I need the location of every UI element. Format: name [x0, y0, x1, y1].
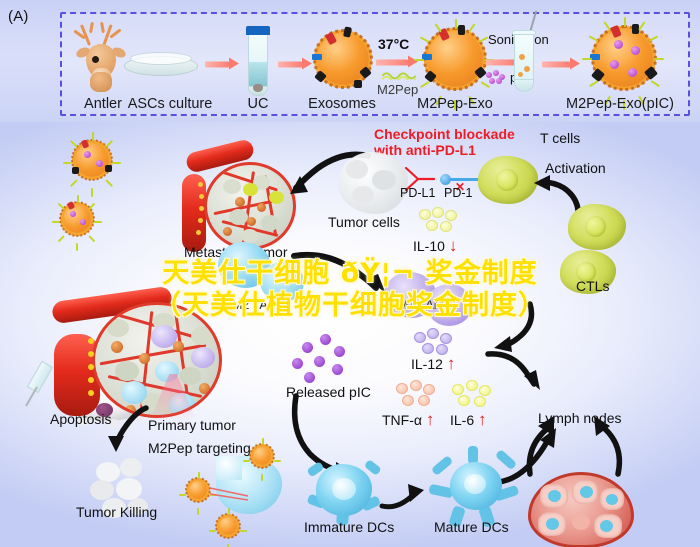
label-mature-dcs: Mature DCs — [434, 519, 509, 535]
ctl-cell-1-illustration — [568, 204, 626, 250]
ultracentrifuge-tube-illustration — [245, 26, 271, 96]
tnfa-cytokine-cluster — [396, 380, 440, 410]
mature-dc-illustration — [432, 446, 518, 526]
label-il10: IL-10 ↓ — [413, 236, 457, 256]
il10-name: IL-10 — [413, 238, 445, 254]
process-arrow-3 — [278, 58, 312, 71]
caption-m2pep-exo: M2Pep-Exo — [417, 96, 493, 112]
arrow-m1-to-cytokines — [478, 302, 538, 352]
tumor-cell-lobe — [346, 160, 368, 179]
label-m1-tams: M1 TAMs — [398, 298, 450, 312]
label-tumor-cells: Tumor cells — [328, 214, 400, 230]
label-il6: IL-6 ↑ — [450, 410, 487, 430]
process-arrow-4 — [376, 56, 420, 69]
petri-dish-illustration — [124, 52, 198, 78]
arrow-lymph-to-ctls-right — [578, 412, 632, 478]
sonication-tube-illustration — [512, 28, 536, 94]
caption-antler: Antler — [84, 96, 122, 112]
tumor-cell-lobe — [372, 170, 396, 190]
immature-dc-illustration — [306, 452, 382, 524]
exosome-free-2 — [60, 202, 94, 236]
arrow-cytokines-to-lymph — [486, 350, 548, 396]
m2pep-exo-vesicle-illustration — [424, 28, 486, 90]
il12-arrow: ↑ — [447, 354, 456, 373]
tnfa-arrow: ↑ — [426, 410, 435, 429]
exosome-free-1 — [72, 140, 112, 180]
il10-arrow: ↓ — [449, 236, 458, 255]
label-apoptosis: Apoptosis — [50, 411, 111, 427]
label-t-cells: T cells — [540, 130, 580, 146]
exosome-vesicle-illustration — [314, 30, 372, 88]
panel-a: (A) — [0, 0, 700, 122]
m2pep-label: M2Pep — [377, 82, 418, 97]
panel-a-label: (A) — [8, 8, 29, 25]
released-pic-cluster — [290, 334, 352, 384]
pic-cluster-icon — [486, 70, 508, 84]
temperature-label: 37°C — [378, 36, 409, 52]
label-immature-dcs: Immature DCs — [304, 519, 394, 535]
il10-cytokine-cluster — [419, 207, 461, 237]
caption-exosomes: Exosomes — [308, 96, 376, 112]
caption-m2pep-exo-pic: M2Pep-Exo(pIC) — [566, 96, 674, 112]
tnfa-name: TNF-α — [382, 412, 422, 428]
label-checkpoint-blockade-1: Checkpoint blockade — [374, 126, 515, 142]
label-m2pep-targeting: M2Pep targeting — [148, 440, 251, 456]
process-arrow-6 — [542, 58, 582, 71]
label-il12: IL-12 ↑ — [411, 354, 455, 374]
m2-tam-cell-2-illustration — [260, 262, 304, 302]
label-primary-tumor: Primary tumor — [148, 417, 236, 433]
syringe-illustration — [20, 360, 50, 418]
figure-root: (A) — [0, 0, 700, 547]
label-tumor-killing: Tumor Killing — [76, 504, 157, 520]
il6-arrow: ↑ — [478, 410, 487, 429]
il12-name: IL-12 — [411, 356, 443, 372]
targeting-exosome-3 — [216, 514, 240, 538]
arrow-immature-to-mature-dcs — [380, 480, 432, 514]
caption-uc: UC — [248, 96, 269, 112]
targeting-exosome-2 — [186, 478, 210, 502]
process-arrow-2 — [205, 58, 239, 71]
tumor-cell-lobe — [352, 186, 374, 204]
il6-name: IL-6 — [450, 412, 474, 428]
panel-b: Metastatic tumor Checkpoint blockade wit… — [0, 122, 700, 547]
label-pdl1: PD-L1 — [400, 186, 435, 200]
label-pd1: PD-1 — [444, 186, 472, 200]
m2pep-squiggle-icon — [378, 70, 420, 80]
label-tnfa: TNF-α ↑ — [382, 410, 434, 430]
m2pep-exo-pic-vesicle-illustration — [592, 26, 656, 90]
targeting-exosome-1 — [250, 444, 274, 468]
targeting-link-line — [208, 482, 254, 502]
caption-ascs-culture: ASCs culture — [128, 96, 213, 112]
label-ctls: CTLs — [576, 278, 609, 294]
